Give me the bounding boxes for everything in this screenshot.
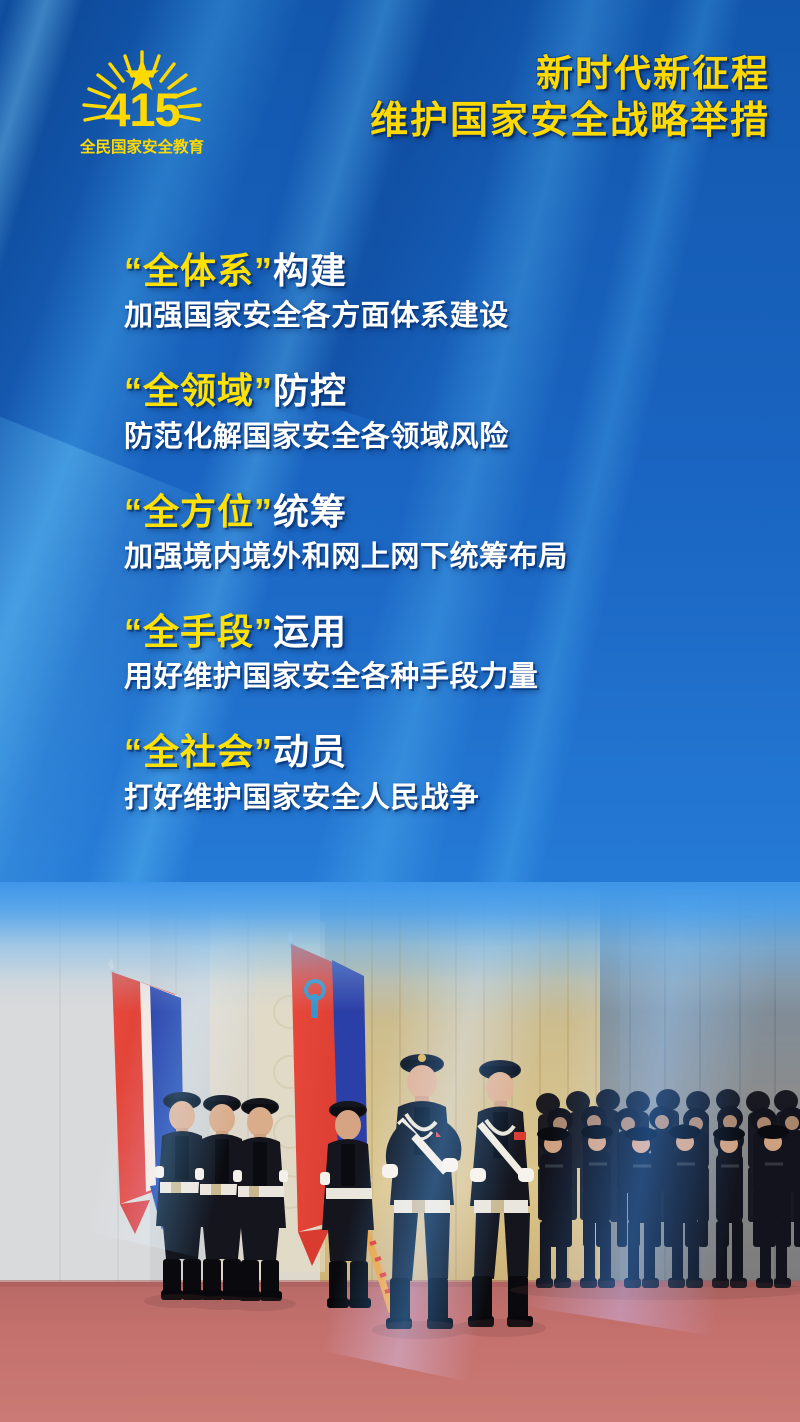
- list-item: “全体系”构建 加强国家安全各方面体系建设: [124, 250, 764, 334]
- page-title-line-2: 维护国家安全战略举措: [370, 97, 770, 146]
- quote-open: “: [124, 611, 143, 652]
- page-title: 新时代新征程 维护国家安全战略举措: [370, 50, 770, 146]
- measure-subtitle: 防范化解国家安全各领域风险: [124, 420, 764, 455]
- measure-title: “全方位”统筹: [124, 491, 764, 533]
- measure-subtitle: 加强境内境外和网上网下统筹布局: [124, 540, 764, 575]
- measure-title: “全社会”动员: [124, 731, 764, 773]
- poster-header: 415 全民国家安全教育 新时代新征程 维护国家安全战略举措: [0, 0, 800, 185]
- list-item: “全方位”统筹 加强境内境外和网上网下统筹布局: [124, 491, 764, 575]
- measure-title-tail: 构建: [273, 250, 347, 291]
- measure-title-tail: 防控: [273, 370, 347, 411]
- quote-close: ”: [254, 731, 273, 772]
- star-rays-icon: 415 全民国家安全教育: [72, 48, 212, 160]
- page-title-line-1: 新时代新征程: [370, 50, 770, 97]
- emblem-number: 415: [104, 83, 179, 136]
- measure-highlight: 全社会: [143, 731, 254, 772]
- measures-list: “全体系”构建 加强国家安全各方面体系建设 “全领域”防控 防范化解国家安全各领…: [124, 250, 764, 815]
- national-security-education-day-emblem: 415 全民国家安全教育: [72, 48, 212, 160]
- measure-title: “全领域”防控: [124, 370, 764, 412]
- measure-title-tail: 动员: [273, 731, 347, 772]
- quote-open: “: [124, 250, 143, 291]
- measure-subtitle: 打好维护国家安全人民战争: [124, 781, 764, 816]
- poster-root: 415 全民国家安全教育 新时代新征程 维护国家安全战略举措 “全体系”构建 加…: [0, 0, 800, 1422]
- quote-open: “: [124, 731, 143, 772]
- list-item: “全社会”动员 打好维护国家安全人民战争: [124, 731, 764, 815]
- measure-title: “全手段”运用: [124, 611, 764, 653]
- measure-title-tail: 统筹: [273, 491, 347, 532]
- measure-subtitle: 加强国家安全各方面体系建设: [124, 299, 764, 334]
- measure-title: “全体系”构建: [124, 250, 764, 292]
- measure-highlight: 全手段: [143, 611, 254, 652]
- measure-highlight: 全领域: [143, 370, 254, 411]
- police-honor-guard-photo: [0, 882, 800, 1422]
- measure-title-tail: 运用: [273, 611, 347, 652]
- emblem-caption: 全民国家安全教育: [79, 137, 204, 156]
- quote-close: ”: [254, 491, 273, 532]
- quote-close: ”: [254, 611, 273, 652]
- list-item: “全领域”防控 防范化解国家安全各领域风险: [124, 370, 764, 454]
- quote-close: ”: [254, 370, 273, 411]
- list-item: “全手段”运用 用好维护国家安全各种手段力量: [124, 611, 764, 695]
- measure-highlight: 全方位: [143, 491, 254, 532]
- quote-close: ”: [254, 250, 273, 291]
- measure-subtitle: 用好维护国家安全各种手段力量: [124, 660, 764, 695]
- quote-open: “: [124, 491, 143, 532]
- measure-highlight: 全体系: [143, 250, 254, 291]
- quote-open: “: [124, 370, 143, 411]
